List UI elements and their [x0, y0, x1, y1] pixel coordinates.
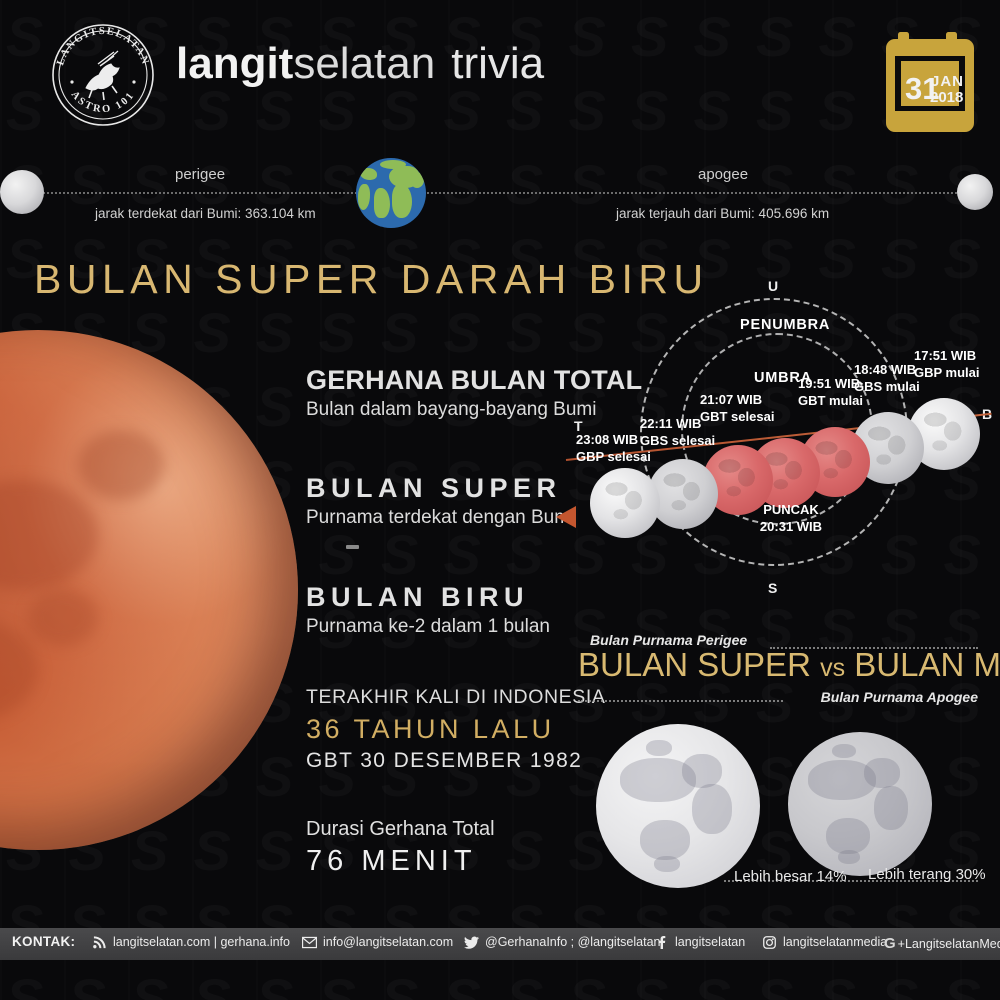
peak-label: PUNCAK 20:31 WIB — [746, 502, 836, 535]
penumbra-label: PENUMBRA — [740, 317, 830, 333]
duration-value: 76 MENIT — [306, 845, 495, 878]
perigee-moon-icon — [0, 170, 44, 214]
stat-size: Lebih besar 14% — [734, 868, 847, 885]
apogee-caption: Bulan Purnama Apogee — [821, 689, 978, 705]
phase-event: GBS mulai — [854, 379, 920, 396]
phase-event: GBT selesai — [700, 409, 774, 426]
history-caption: TERAKHIR KALI DI INDONESIA — [306, 686, 606, 709]
email-icon — [302, 936, 317, 949]
footer-item-twitter[interactable]: @GerhanaInfo ; @langitselatan — [464, 935, 660, 949]
svm-title-b: BULAN MINI — [854, 646, 1000, 683]
rss-icon — [92, 936, 107, 949]
footer-item-text: langitselatanmedia — [783, 935, 887, 949]
facebook-icon — [654, 936, 669, 949]
phase-label-17-51: 17:51 WIB GBP mulai — [914, 348, 980, 381]
footer-item-text: langitselatan — [675, 935, 745, 949]
apogee-moon-icon — [957, 174, 993, 210]
fact-bulan-super: BULAN SUPER Purnama terdekat dengan Bumi — [306, 473, 574, 529]
peak-name: PUNCAK — [746, 502, 836, 519]
brand-thin: selatan — [293, 39, 435, 88]
super-vs-mini-section: Bulan Purnama Perigee BULAN SUPER vs BUL… — [578, 632, 978, 902]
fact-heading: BULAN BIRU — [306, 582, 550, 613]
perigee-apogee-row: perigee jarak terdekat dari Bumi: 363.10… — [0, 150, 1000, 255]
phase-label-18-48: 18:48 WIB GBS mulai — [854, 362, 920, 395]
footer-item-instagram[interactable]: langitselatanmedia — [762, 935, 887, 949]
phase-event: GBS selesai — [640, 433, 715, 450]
fact-subtitle: Purnama ke-2 dalam 1 bulan — [306, 616, 550, 638]
svm-title-vs: vs — [820, 654, 845, 682]
apogee-distance: jarak terjauh dari Bumi: 405.696 km — [616, 206, 829, 221]
phase-event: GBP mulai — [914, 365, 980, 382]
direction-south: S — [768, 580, 777, 596]
footer-item-googleplus[interactable]: G +LangitselatanMedia — [884, 935, 1000, 952]
svm-title-a: BULAN SUPER — [578, 646, 811, 683]
history-detail: GBT 30 DESEMBER 1982 — [306, 749, 606, 773]
footer-item-text: @GerhanaInfo ; @langitselatan — [485, 935, 660, 949]
footer-item-email[interactable]: info@langitselatan.com — [302, 935, 453, 949]
stat-brightness: Lebih terang 30% — [868, 866, 986, 883]
orbit-line-left — [24, 192, 364, 194]
direction-north: U — [768, 278, 778, 294]
brand-trivia: trivia — [451, 39, 544, 88]
divider-dash — [346, 545, 359, 549]
mini-moon-graphic — [788, 732, 932, 876]
phase-time: 21:07 WIB — [700, 392, 774, 409]
header: LANGITSELATAN ASTRO 101 langitselatantri… — [0, 0, 1000, 150]
duration-block: Durasi Gerhana Total 76 MENIT — [306, 818, 495, 878]
phase-label-21-07: 21:07 WIB GBT selesai — [700, 392, 774, 425]
apogee-label: apogee — [698, 166, 748, 183]
fact-heading: BULAN SUPER — [306, 473, 574, 504]
perigee-label: perigee — [175, 166, 225, 183]
footer-item-facebook[interactable]: langitselatan — [654, 935, 745, 949]
leader-line-bottom — [578, 700, 783, 702]
langitselatan-seal-logo: LANGITSELATAN ASTRO 101 — [48, 20, 158, 130]
orbit-line-right — [424, 192, 980, 194]
super-moon-graphic — [596, 724, 760, 888]
brand-bold: langit — [176, 39, 293, 88]
footer-item-website[interactable]: langitselatan.com | gerhana.info — [92, 935, 290, 949]
history-block: TERAKHIR KALI DI INDONESIA 36 TAHUN LALU… — [306, 686, 606, 773]
fact-bulan-biru: BULAN BIRU Purnama ke-2 dalam 1 bulan — [306, 582, 550, 638]
googleplus-icon: G — [884, 935, 896, 952]
svm-title: BULAN SUPER vs BULAN MINI — [578, 646, 978, 684]
moon-phase-23-08 — [590, 468, 660, 538]
footer-item-text: +LangitselatanMedia — [898, 937, 1000, 951]
kontak-label: KONTAK: — [12, 934, 75, 949]
path-arrow-icon — [556, 506, 576, 528]
phase-event: GBP selesai — [576, 449, 651, 466]
peak-time: 20:31 WIB — [746, 519, 836, 536]
phase-time: 18:48 WIB — [854, 362, 920, 379]
history-highlight: 36 TAHUN LALU — [306, 714, 606, 745]
brand-title: langitselatantrivia — [176, 38, 544, 90]
footer-item-text: langitselatan.com | gerhana.info — [113, 935, 290, 949]
footer-item-text: info@langitselatan.com — [323, 935, 453, 949]
calendar-month: JAN — [931, 73, 964, 90]
perigee-distance: jarak terdekat dari Bumi: 363.104 km — [95, 206, 316, 221]
instagram-icon — [762, 936, 777, 949]
blood-moon-image — [0, 330, 298, 850]
calendar-year: 2018 — [930, 89, 963, 106]
infographic-root: SSSSSSSSSSSSSSSSSSSSSSSSSSSSSSSSSSSSSSSS… — [0, 0, 1000, 1000]
twitter-icon — [464, 936, 479, 949]
fact-subtitle: Purnama terdekat dengan Bumi — [306, 507, 574, 529]
calendar-icon: 31 JAN 2018 — [884, 30, 976, 134]
duration-caption: Durasi Gerhana Total — [306, 818, 495, 841]
earth-icon — [356, 158, 426, 228]
eclipse-path-diagram: U S T B PENUMBRA UMBRA 23:08 WIB GBP sel… — [560, 270, 1000, 610]
phase-time: 17:51 WIB — [914, 348, 980, 365]
